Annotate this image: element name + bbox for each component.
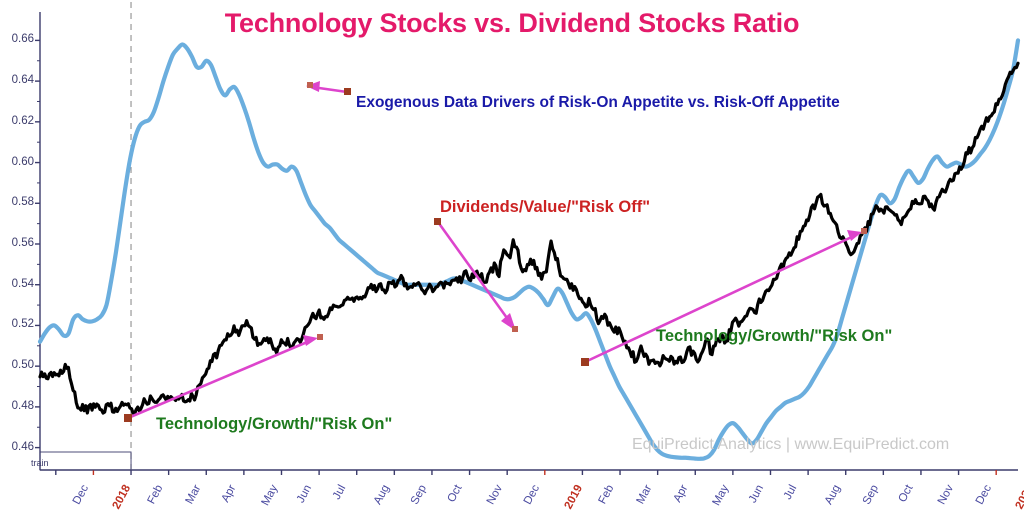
chart-root: Technology Stocks vs. Dividend Stocks Ra…	[0, 0, 1024, 520]
annotation-risk-on-late: Technology/Growth/"Risk On"	[656, 327, 892, 346]
annotation-risk-on-early: Technology/Growth/"Risk On"	[156, 415, 392, 434]
annotation-exogenous: Exogenous Data Drivers of Risk-On Appeti…	[356, 94, 840, 112]
exogenous-arrow	[306, 81, 351, 95]
annotation-risk-off: Dividends/Value/"Risk Off"	[440, 198, 650, 217]
risk-on-1-arrow	[124, 334, 323, 422]
risk-off-arrow	[434, 218, 518, 332]
watermark: EquiPredict Analytics | www.EquiPredict.…	[632, 436, 949, 454]
